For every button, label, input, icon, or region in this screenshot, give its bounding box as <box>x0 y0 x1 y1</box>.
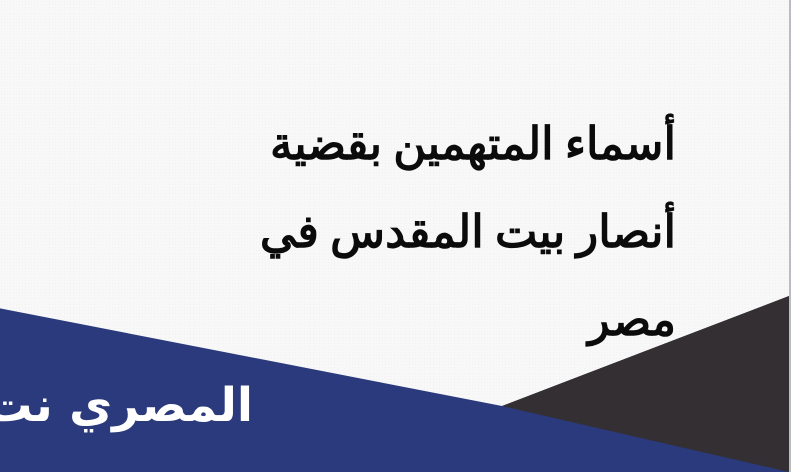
page-title: أسماء المتهمين بقضية أنصار بيت المقدس في… <box>171 100 676 364</box>
thumbnail-canvas: أسماء المتهمين بقضية أنصار بيت المقدس في… <box>0 0 791 472</box>
brand-watermark: المصري نت <box>13 374 253 436</box>
brand-name: المصري نت <box>0 382 253 429</box>
